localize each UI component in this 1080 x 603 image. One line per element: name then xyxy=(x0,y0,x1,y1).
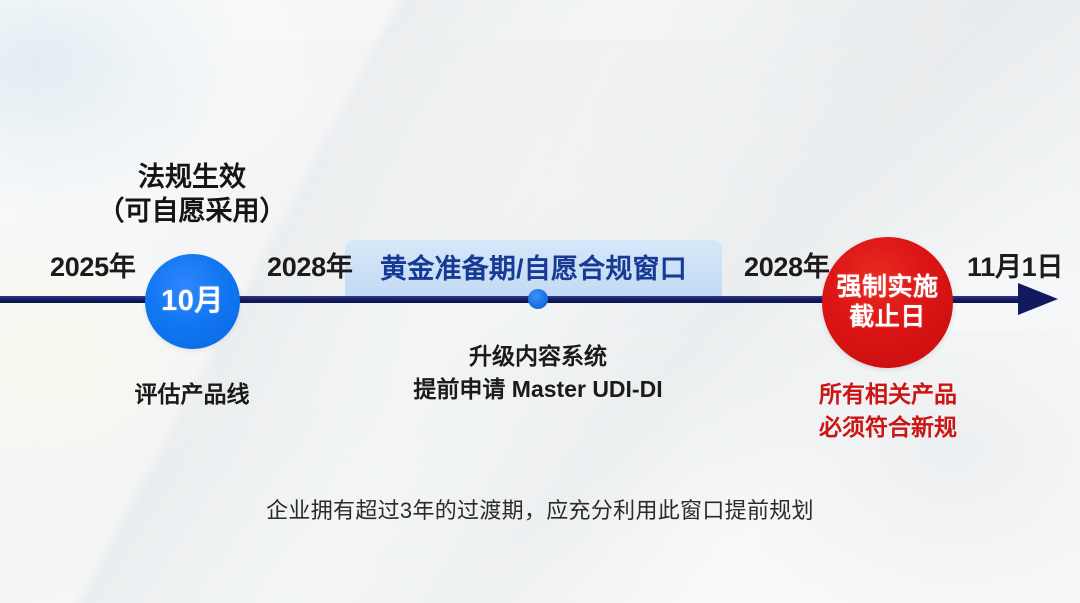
heading-line-1: 法规生效 xyxy=(62,160,322,194)
milestone-marker-preparation-window xyxy=(528,289,548,309)
deadline-marker-line-2: 截止日 xyxy=(849,303,926,333)
background-texture-bottom-right xyxy=(700,330,1080,603)
caption-mid-line-1: 升级内容系统 xyxy=(388,340,688,373)
preparation-window-label: 黄金准备期/自愿合规窗口 xyxy=(380,256,687,283)
timeline-infographic: 法规生效 （可自愿采用） 黄金准备期/自愿合规窗口 2025年 2028年 20… xyxy=(0,0,1080,603)
year-label-2028-deadline: 2028年 xyxy=(744,254,830,281)
caption-mid-line-2: 提前申请 Master UDI-DI xyxy=(388,373,688,406)
caption-right-line-1: 所有相关产品 xyxy=(778,378,998,411)
caption-right-line-2: 必须符合新规 xyxy=(778,411,998,444)
milestone-marker-mandatory-deadline: 强制实施 截止日 xyxy=(822,237,953,368)
milestone-marker-regulation-effective: 10月 xyxy=(145,254,240,349)
end-date-label: 11月1日 xyxy=(967,254,1063,281)
deadline-marker-line-1: 强制实施 xyxy=(836,273,938,303)
milestone-marker-label-october: 10月 xyxy=(161,287,224,316)
year-label-2028-window: 2028年 xyxy=(267,254,353,281)
caption-left-line-1: 评估产品线 xyxy=(62,378,322,411)
regulation-effective-heading: 法规生效 （可自愿采用） xyxy=(62,160,322,228)
caption-preparation-window: 升级内容系统 提前申请 Master UDI-DI xyxy=(388,340,688,405)
background-texture-diagonal xyxy=(150,40,850,270)
caption-mandatory-deadline: 所有相关产品 必须符合新规 xyxy=(778,378,998,445)
heading-line-2: （可自愿采用） xyxy=(62,194,322,228)
timeline-arrow-icon xyxy=(1018,283,1058,315)
caption-regulation-effective: 评估产品线 xyxy=(62,378,322,411)
year-label-2025: 2025年 xyxy=(50,254,136,281)
footnote-summary: 企业拥有超过3年的过渡期，应充分利用此窗口提前规划 xyxy=(0,497,1080,526)
